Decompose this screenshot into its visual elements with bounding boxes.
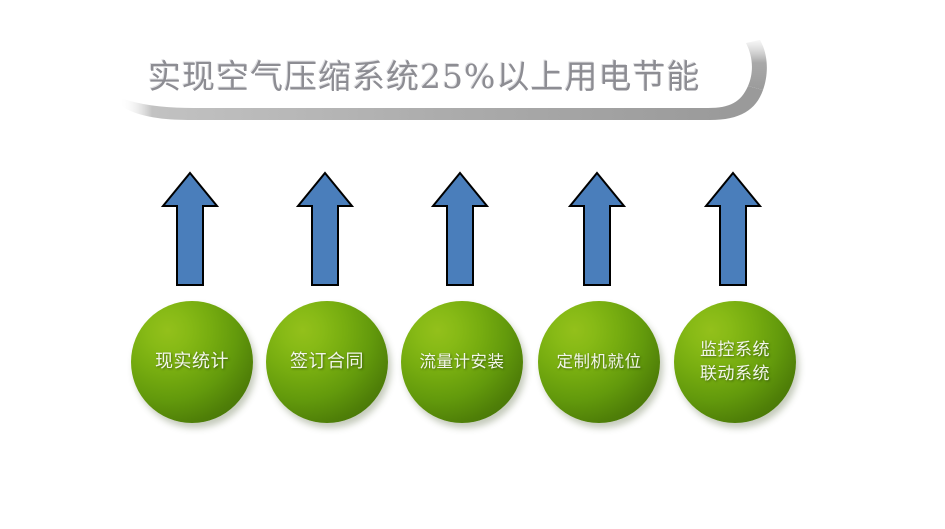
arrow-up-icon-5 (704, 170, 762, 288)
step-label-2: 签订合同 (286, 349, 368, 375)
slide-canvas: 实现空气压缩系统25%以上用电节能 现实统计 签订合同 流量计安装 定制机就位 … (0, 0, 945, 529)
step-circle-1[interactable]: 现实统计 (131, 301, 253, 423)
page-title: 实现空气压缩系统25%以上用电节能 (148, 46, 748, 108)
arrow-up-icon-2 (296, 170, 354, 288)
step-label-1: 现实统计 (151, 349, 233, 375)
arrow-up-icon-3 (431, 170, 489, 288)
step-label-3: 流量计安装 (416, 349, 509, 375)
step-circle-5[interactable]: 监控系统 联动系统 (674, 301, 796, 423)
arrow-up-icon-1 (161, 170, 219, 288)
step-circle-3[interactable]: 流量计安装 (401, 301, 523, 423)
step-label-4: 定制机就位 (553, 349, 646, 375)
title-banner: 实现空气压缩系统25%以上用电节能 (118, 38, 778, 138)
arrow-up-icon-4 (568, 170, 626, 288)
step-circle-4[interactable]: 定制机就位 (538, 301, 660, 423)
step-label-5: 监控系统 联动系统 (696, 338, 774, 386)
step-circle-2[interactable]: 签订合同 (266, 301, 388, 423)
